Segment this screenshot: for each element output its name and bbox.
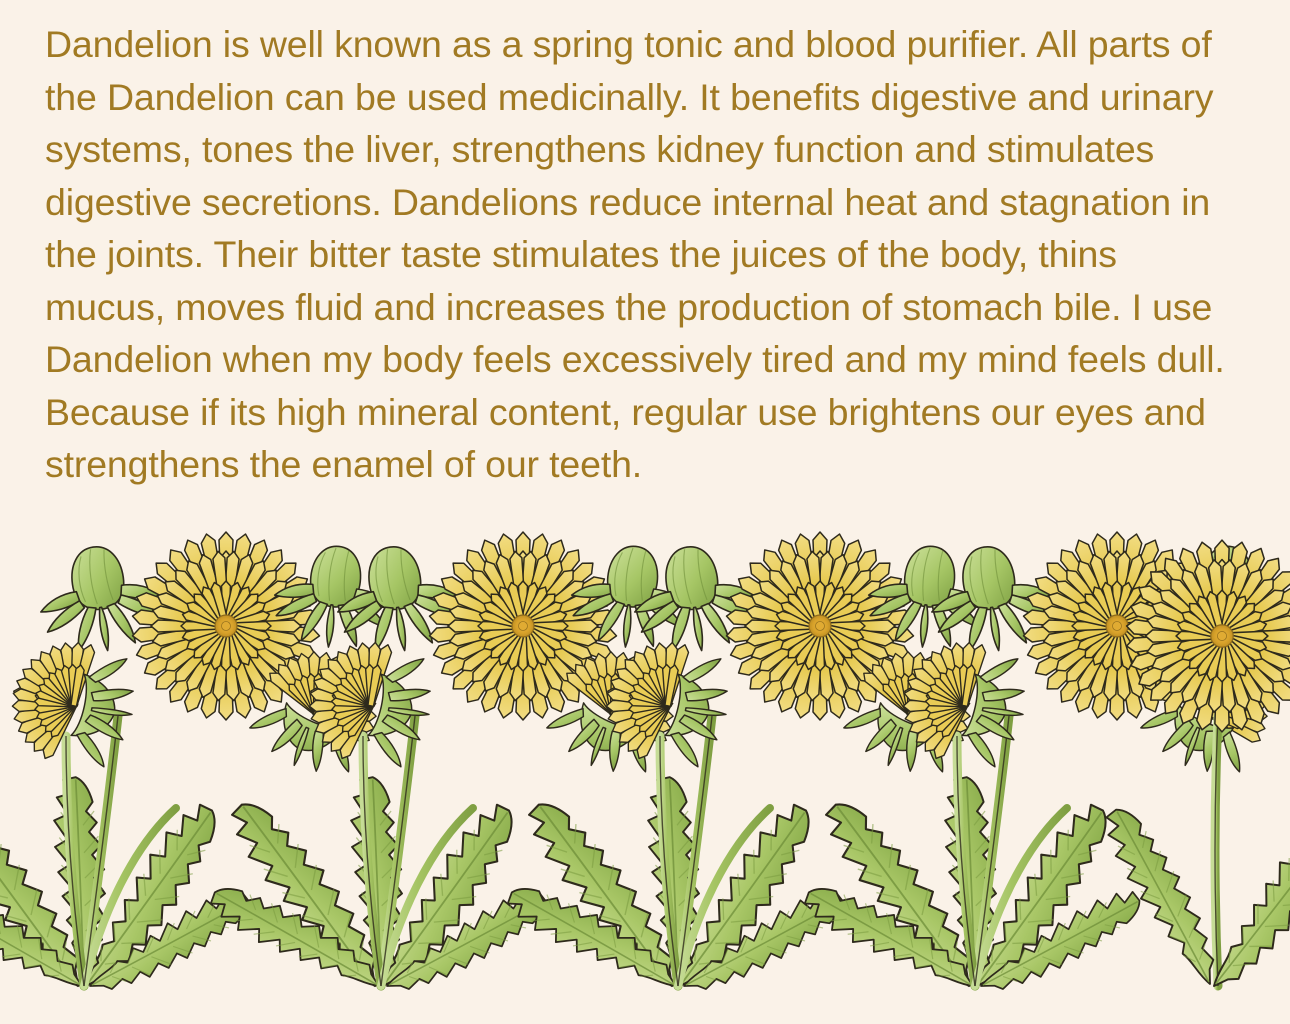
- dandelion-border-illustration: [0, 516, 1290, 1024]
- article-paragraph: Dandelion is well known as a spring toni…: [45, 18, 1233, 491]
- page-root: Dandelion is well known as a spring toni…: [0, 0, 1290, 1024]
- article-text-block: Dandelion is well known as a spring toni…: [45, 18, 1233, 491]
- dandelion-illustration-svg: [0, 516, 1290, 1024]
